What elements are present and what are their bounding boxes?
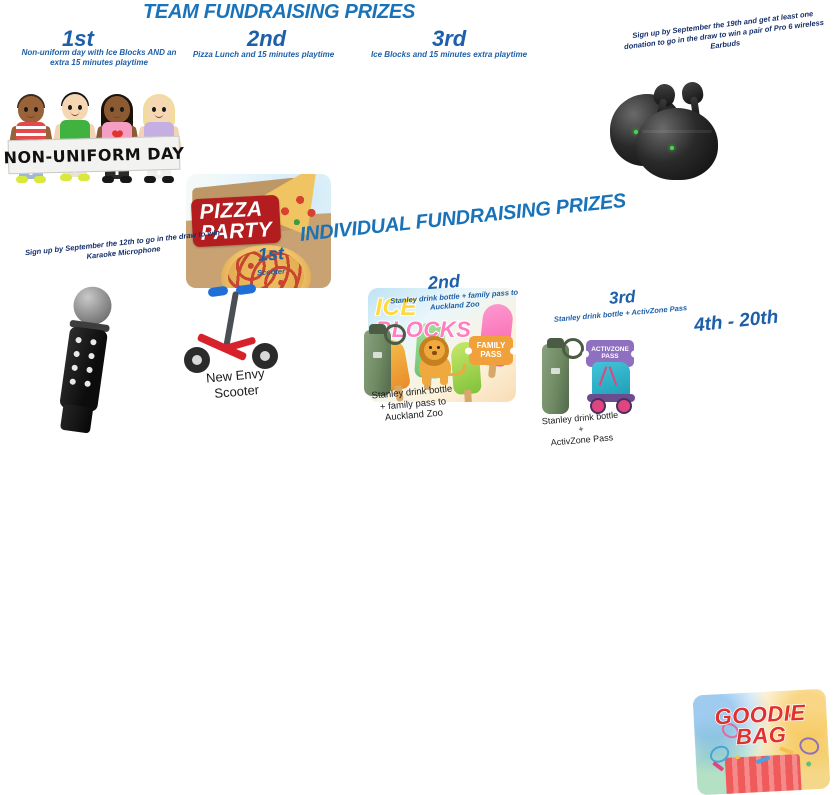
microphone-button <box>69 378 76 385</box>
team-prize-3-blurb-line1: Ice Blocks and 15 minutes extra playtime <box>364 50 534 60</box>
individual-prize-3-rank: 3rd <box>608 287 636 309</box>
team-prize-1-blurb: Non-uniform day with Ice Blocks AND an e… <box>4 48 194 68</box>
lion-eye-left <box>429 346 432 349</box>
head-shape <box>146 96 172 123</box>
roller-skate-figure <box>584 362 646 410</box>
eye-right <box>34 107 38 112</box>
goodie-bag-image: GOODIE BAG <box>692 689 830 795</box>
lion-leg-front <box>422 372 430 385</box>
microphone-button <box>90 339 97 346</box>
eye-right <box>162 107 166 112</box>
earbud-case-led <box>670 146 674 150</box>
stanley-logo <box>551 368 560 374</box>
eye-left <box>110 107 114 112</box>
microphone-button <box>84 380 91 387</box>
head-shape <box>18 96 44 123</box>
lion-eye-right <box>437 346 440 349</box>
microphone-button <box>73 351 80 358</box>
eye-right <box>120 107 124 112</box>
scooter-wheel-rear <box>184 347 210 373</box>
microphone-button <box>75 337 82 344</box>
wireless-earbuds-image <box>610 78 760 182</box>
earbud-case-lid-seam <box>642 130 712 133</box>
head-shape <box>62 94 88 121</box>
stanley-bottle-activzone-pass-image: ACTIVZONE PASS <box>532 326 662 410</box>
eye-left <box>68 105 72 110</box>
individual-prize-1-rank: 1st <box>257 243 284 266</box>
mouth-shape <box>155 113 164 118</box>
non-uniform-day-image: NON-UNIFORM DAY <box>8 84 178 188</box>
individual-section-title: INDIVIDUAL FUNDRAISING PRIZES <box>299 190 627 247</box>
non-uniform-day-banner-text: NON-UNIFORM DAY <box>3 143 184 167</box>
activzone-pass-ticket-text: ACTIVZONE PASS <box>591 347 629 361</box>
stanley-bottle-loop <box>562 338 584 359</box>
stanley-logo <box>373 352 382 358</box>
team-prize-1-blurb-line1: Non-uniform day with Ice Blocks AND an <box>4 48 194 58</box>
shoe-right <box>162 176 174 183</box>
lion-tail <box>447 364 466 376</box>
eye-left <box>152 107 156 112</box>
team-prize-2-rank: 2nd <box>247 26 286 52</box>
shoe-right <box>78 174 90 181</box>
earbud-right <box>681 81 705 106</box>
shoe-left <box>16 176 28 183</box>
microphone-handle <box>60 404 93 434</box>
team-prize-1-blurb-line2: extra 15 minutes playtime <box>4 58 194 68</box>
earbud-case-front <box>636 108 718 180</box>
shoe-right <box>120 176 132 183</box>
individual-prize-4-rank: 4th - 20th <box>693 307 779 338</box>
stanley-bottle-zoo-pass-image: FAMILY PASS <box>356 322 516 388</box>
earbuds-promo-text: Sign up by September the 19th and get at… <box>607 6 837 63</box>
mouth-shape <box>113 113 122 118</box>
team-prize-2-blurb-line1: Pizza Lunch and 15 minutes playtime <box>186 50 341 60</box>
team-prize-3-rank: 3rd <box>432 26 466 52</box>
lion-nose <box>432 351 437 355</box>
shoe-left <box>60 174 72 181</box>
microphone-button <box>88 353 95 360</box>
family-pass-line2: PASS <box>480 350 501 359</box>
head-shape <box>104 96 130 123</box>
shoe-left <box>144 176 156 183</box>
karaoke-microphone-image <box>38 282 157 439</box>
lion-face <box>424 340 445 360</box>
scooter-handle-left <box>207 286 228 298</box>
eye-left <box>24 107 28 112</box>
team-section-title: TEAM FUNDRAISING PRIZES <box>143 1 415 24</box>
poster-canvas: TEAM FUNDRAISING PRIZES 1st Non-uniform … <box>0 0 837 474</box>
stanley-bottle-loop <box>384 324 406 345</box>
family-pass-ticket-text: FAMILY PASS <box>477 342 506 359</box>
team-prize-2-blurb: Pizza Lunch and 15 minutes playtime <box>186 50 341 60</box>
microphone-button <box>86 367 93 374</box>
scooter-image <box>180 285 296 375</box>
mouth-shape <box>71 111 80 116</box>
mouth-shape <box>27 113 36 118</box>
eye-right <box>78 105 82 110</box>
individual-prize-3-caption: Stanley drink bottle + ActivZone Pass <box>515 407 647 451</box>
activzone-pass-line2: PASS <box>601 353 618 360</box>
microphone-body <box>59 326 108 412</box>
individual-prize-2-rank: 2nd <box>427 271 460 294</box>
family-pass-ticket: FAMILY PASS <box>469 336 513 365</box>
team-prize-3-blurb: Ice Blocks and 15 minutes extra playtime <box>364 50 534 60</box>
goodie-bag-title: GOODIE BAG <box>714 703 807 749</box>
microphone-button <box>71 364 78 371</box>
lion-figure <box>411 330 465 386</box>
shoe-left <box>102 176 114 183</box>
shoe-right <box>34 176 46 183</box>
non-uniform-day-banner: NON-UNIFORM DAY <box>8 136 181 174</box>
